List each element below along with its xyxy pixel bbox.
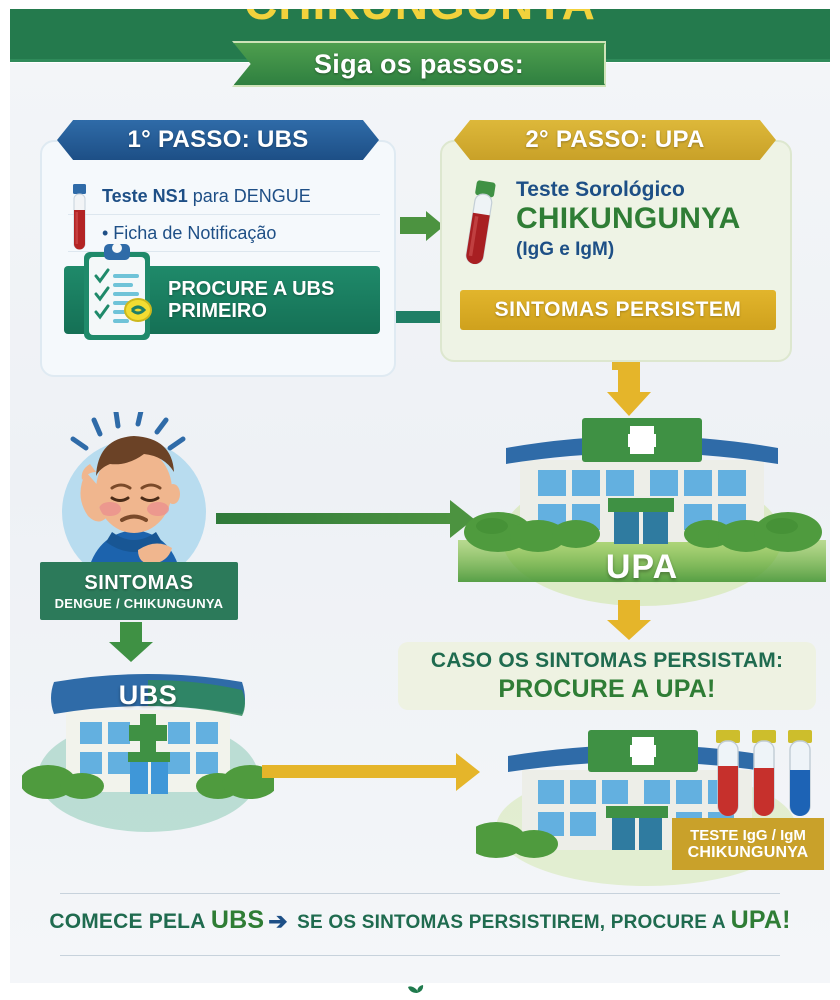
footer-part1: COMECE PELA (49, 910, 210, 933)
teste-igg-badge: TESTE IgG / IgM CHIKUNGUNYA (672, 818, 824, 870)
ubs-hospital-illustration (22, 672, 274, 832)
step-2-header: 2° PASSO: UPA (454, 120, 776, 160)
caso-sintomas-box: CASO OS SINTOMAS PERSISTAM: PROCURE A UP… (398, 642, 816, 710)
footer-part2-emphasis: UPA! (731, 906, 791, 934)
footer-part2: SE OS SINTOMAS PERSISTIREM, PROCURE A (292, 912, 731, 933)
arrow-right-icon: ➔ (268, 908, 287, 935)
banner-title: CHIKUNGUNYA (10, 9, 830, 30)
procure-ubs-banner: PROCURE A UBS PRIMEIRO (64, 266, 380, 334)
procure-ubs-line2: PRIMEIRO (168, 300, 267, 322)
upa-test-line1: Teste Sorológico (516, 178, 685, 202)
green-cap-blood-tube-icon (462, 180, 498, 272)
step-1-header: 1° PASSO: UBS (57, 120, 379, 160)
upa-test-line3: (IgG e IgM) (516, 239, 614, 261)
sprout-icon (404, 984, 430, 1000)
three-test-tubes-icon (712, 730, 820, 820)
clipboard-checklist-icon (76, 238, 160, 346)
infographic-poster: CHIKUNGUNYA Siga os passos: 1° PASSO: UB… (0, 0, 840, 1000)
caso-line1: CASO OS SINTOMAS PERSISTAM: (431, 649, 783, 673)
list-item-label: Teste NS1 para DENGUE (102, 186, 311, 207)
sintomas-persistem-banner: SINTOMAS PERSISTEM (460, 290, 776, 330)
footer-divider-bottom (60, 955, 780, 956)
upa-hospital-illustration (458, 408, 826, 608)
arrow-ubs-to-upa-bottom (262, 765, 457, 778)
footer-summary: COMECE PELA UBS➔ SE OS SINTOMAS PERSISTI… (0, 906, 840, 935)
procure-ubs-line1: PROCURE A UBS (168, 278, 334, 300)
upa-test-line2: CHIKUNGUNYA (516, 202, 740, 236)
caso-line2: PROCURE A UPA! (498, 675, 715, 704)
sintomas-title: SINTOMAS (84, 572, 193, 595)
list-item-strong: Teste NS1 (102, 186, 188, 206)
arrow-step2-to-upa (618, 362, 640, 392)
arrow-sintomas-to-upa (216, 513, 451, 524)
footer-divider-top (60, 893, 780, 894)
arrow-upa-to-caso (618, 600, 640, 620)
igg-line2: CHIKUNGUNYA (688, 844, 809, 862)
sintomas-label: SINTOMAS DENGUE / CHIKUNGUNYA (40, 562, 238, 620)
arrow-sintomas-to-ubs (120, 622, 142, 642)
procure-ubs-label: PROCURE A UBS PRIMEIRO (168, 278, 334, 322)
step-card-ubs: 1° PASSO: UBS Teste NS1 para DENGUE • Fi… (40, 140, 396, 377)
step-card-upa: 2° PASSO: UPA Teste Sorológico CHIKUNGUN… (440, 140, 792, 362)
sintomas-subtitle: DENGUE / CHIKUNGUNYA (55, 596, 224, 611)
step-connector-bar (396, 311, 444, 323)
list-item: Teste NS1 para DENGUE (68, 178, 380, 215)
ribbon-label: Siga os passos: (314, 49, 524, 80)
sick-patient-icon (42, 412, 226, 584)
footer-part1-emphasis: UBS (211, 906, 264, 934)
igg-line1: TESTE IgG / IgM (690, 827, 806, 844)
siga-os-passos-ribbon: Siga os passos: (232, 41, 606, 87)
list-item-rest: para DENGUE (188, 186, 311, 206)
step-2-content: Teste Sorológico CHIKUNGUNYA (IgG e IgM) (460, 176, 776, 276)
arrow-step1-to-step2 (400, 217, 427, 234)
